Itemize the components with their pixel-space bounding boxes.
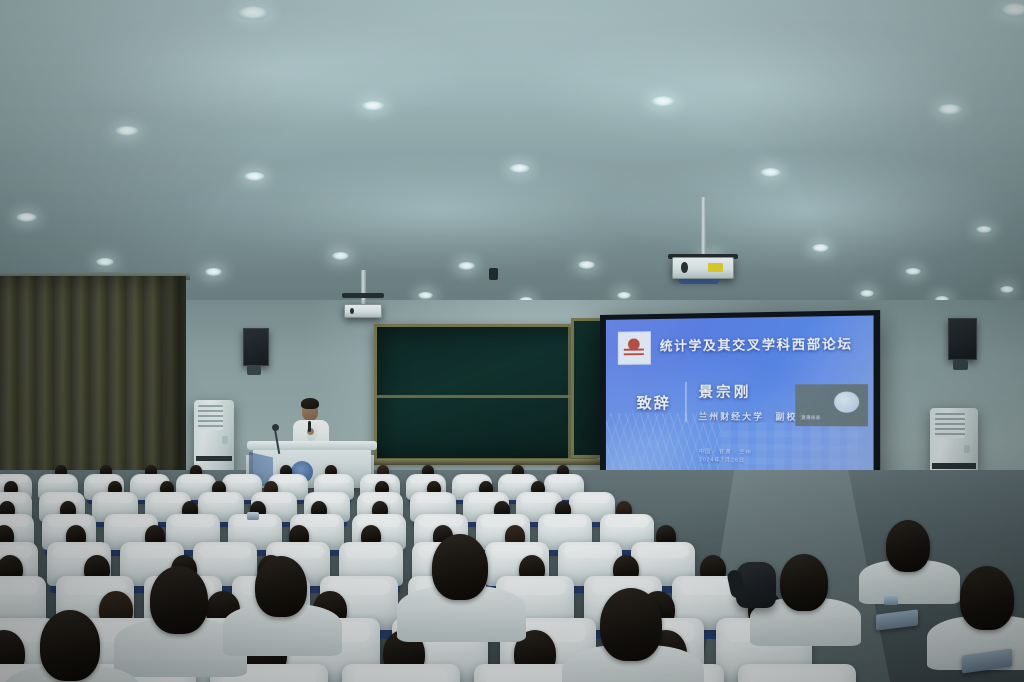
speaker-bracket [953, 360, 968, 370]
ceiling-light-icon [458, 262, 475, 270]
slide: 统计学及其交叉学科西部论坛 致辞 景宗刚 兰州财经大学 副校长 中国 · 甘肃 … [606, 315, 874, 479]
ac-vent [935, 413, 965, 439]
ceiling-sensor [489, 268, 498, 280]
slide-divider [685, 382, 686, 423]
slide-speaker-block: 景宗刚 兰州财经大学 副校长 [699, 381, 809, 423]
microphone-head-icon [272, 424, 279, 431]
ceiling-light-icon [578, 261, 595, 269]
slide-footer: 中国 · 甘肃 · 兰州 2024年7月26日 [699, 449, 752, 466]
projector-lens-icon [681, 262, 688, 272]
handheld-microphone [308, 421, 311, 432]
audience-head [40, 610, 100, 681]
slide-section-label: 致辞 [637, 391, 671, 412]
ceiling-light-icon [332, 252, 349, 260]
chalk-tray [372, 459, 602, 465]
audience-head [780, 554, 828, 611]
ceiling-light-icon [860, 290, 874, 297]
slide-video-overlay: 直播画面 [796, 384, 868, 427]
ceiling-light-icon [236, 6, 270, 20]
ceiling-light-icon [361, 101, 385, 111]
ceiling-projector [344, 270, 382, 318]
slide-footer-location: 中国 · 甘肃 · 兰州 [699, 449, 752, 458]
ceiling-light-icon [976, 226, 992, 233]
slide-footer-date: 2024年7月26日 [699, 457, 752, 466]
slide-grass-graphic [606, 413, 720, 477]
smartphone [247, 512, 259, 520]
ac-band [196, 456, 233, 461]
ceiling-light-icon [617, 292, 631, 299]
audience-head [255, 556, 307, 617]
seat-cover [342, 664, 460, 682]
slide-speaker-name: 景宗刚 [699, 381, 809, 402]
ceiling-light-icon [905, 268, 921, 275]
wall-speaker [948, 318, 977, 360]
ceiling-light-icon [16, 213, 37, 222]
ac-band [932, 463, 976, 469]
projector-label [708, 263, 724, 272]
audience-head [886, 520, 930, 572]
ceiling-light-icon [937, 104, 962, 115]
ceiling-light-icon [650, 96, 676, 107]
lecture-hall-photo: 统计学及其交叉学科西部论坛 致辞 景宗刚 兰州财经大学 副校长 中国 · 甘肃 … [0, 0, 1024, 682]
university-crest-icon [617, 332, 650, 365]
ceiling-light-icon [760, 168, 781, 177]
audience-head [960, 566, 1014, 630]
ceiling-light-icon [509, 164, 530, 173]
projector-body [344, 304, 382, 318]
wall-speaker [243, 328, 269, 366]
chalkboard [374, 324, 598, 461]
speaker-bracket [247, 366, 261, 375]
ac-vent [198, 405, 223, 430]
ceiling-light-icon [244, 172, 265, 181]
backpack [736, 562, 776, 608]
projector-base [679, 279, 719, 284]
projection-screen: 统计学及其交叉学科西部论坛 致辞 景宗刚 兰州财经大学 副校长 中国 · 甘肃 … [600, 310, 880, 490]
ac-display [964, 445, 971, 453]
chalkboard-divider [374, 395, 598, 398]
slide-title: 统计学及其交叉学科西部论坛 [660, 333, 865, 355]
ceiling-light-icon [115, 126, 139, 136]
ceiling-light-icon [1000, 286, 1014, 293]
audience-head [432, 534, 488, 600]
projector-body [672, 257, 734, 279]
overlay-caption: 直播画面 [801, 414, 820, 420]
ac-display [222, 436, 228, 444]
audience-head [600, 588, 662, 661]
projector-lens-icon [350, 308, 354, 314]
presenter-hair [301, 398, 319, 409]
slide-speaker-affiliation: 兰州财经大学 副校长 [699, 410, 809, 423]
ceiling-light-icon [205, 268, 222, 276]
overlay-orb-icon [834, 391, 859, 412]
window-curtain [0, 276, 186, 490]
seat-cover [738, 664, 856, 682]
ceiling-projector [672, 197, 734, 279]
ceiling-light-icon [812, 244, 829, 252]
audience-head [150, 566, 208, 634]
ceiling-light-icon [96, 258, 114, 266]
projector-mount [342, 293, 385, 298]
ceiling-light-icon [999, 3, 1024, 17]
ceiling-light-icon [418, 292, 433, 299]
smartphone [884, 596, 898, 605]
lectern-top [247, 441, 377, 450]
